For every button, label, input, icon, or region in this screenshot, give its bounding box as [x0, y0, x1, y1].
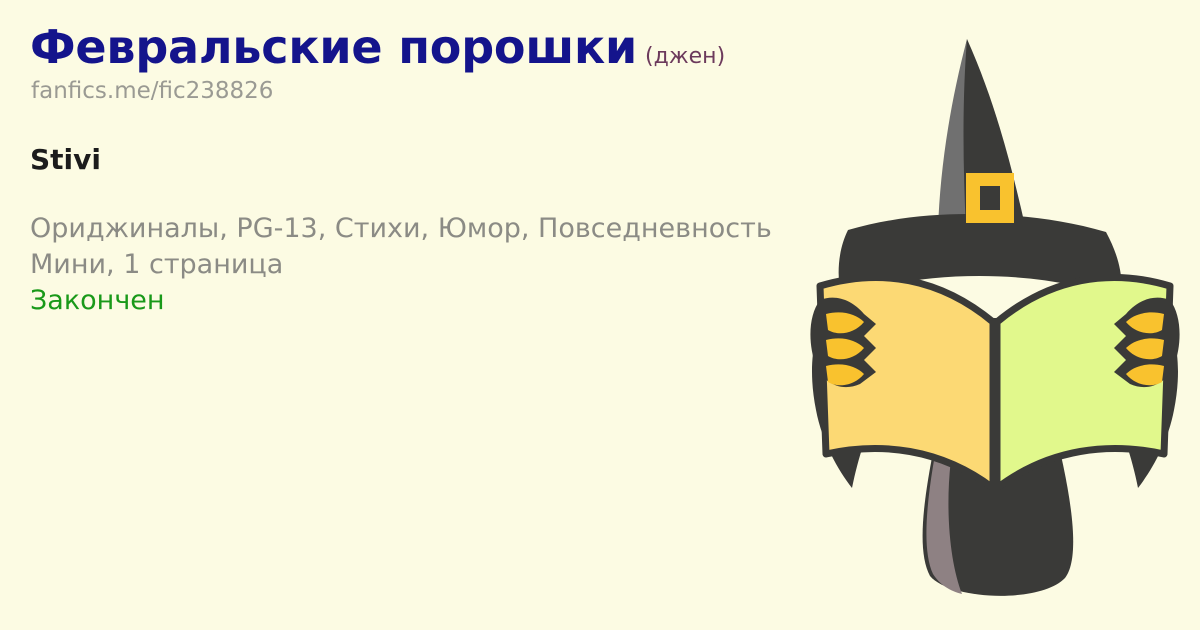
- author-name: Stivi: [30, 143, 850, 177]
- title-category-label: (джен): [645, 44, 725, 69]
- text-column: Февральские порошки(джен) fanfics.me/fic…: [30, 24, 850, 319]
- status-badge: Закончен: [30, 283, 850, 319]
- wizard-reading-book-illustration: [790, 18, 1200, 618]
- witch-hat: [839, 39, 1122, 300]
- open-book: [820, 278, 1170, 492]
- hat-buckle: [966, 173, 1014, 223]
- fanfic-preview-card: Февральские порошки(джен) fanfics.me/fic…: [0, 0, 1200, 630]
- page-title: Февральские порошки: [30, 20, 637, 74]
- title-row: Февральские порошки(джен): [30, 24, 850, 72]
- source-url: fanfics.me/fic238826: [31, 78, 850, 106]
- size-line: Мини, 1 страница: [30, 247, 850, 283]
- tags-line: Ориджиналы, PG-13, Стихи, Юмор, Повседне…: [30, 211, 850, 247]
- meta-block: Ориджиналы, PG-13, Стихи, Юмор, Повседне…: [30, 211, 850, 319]
